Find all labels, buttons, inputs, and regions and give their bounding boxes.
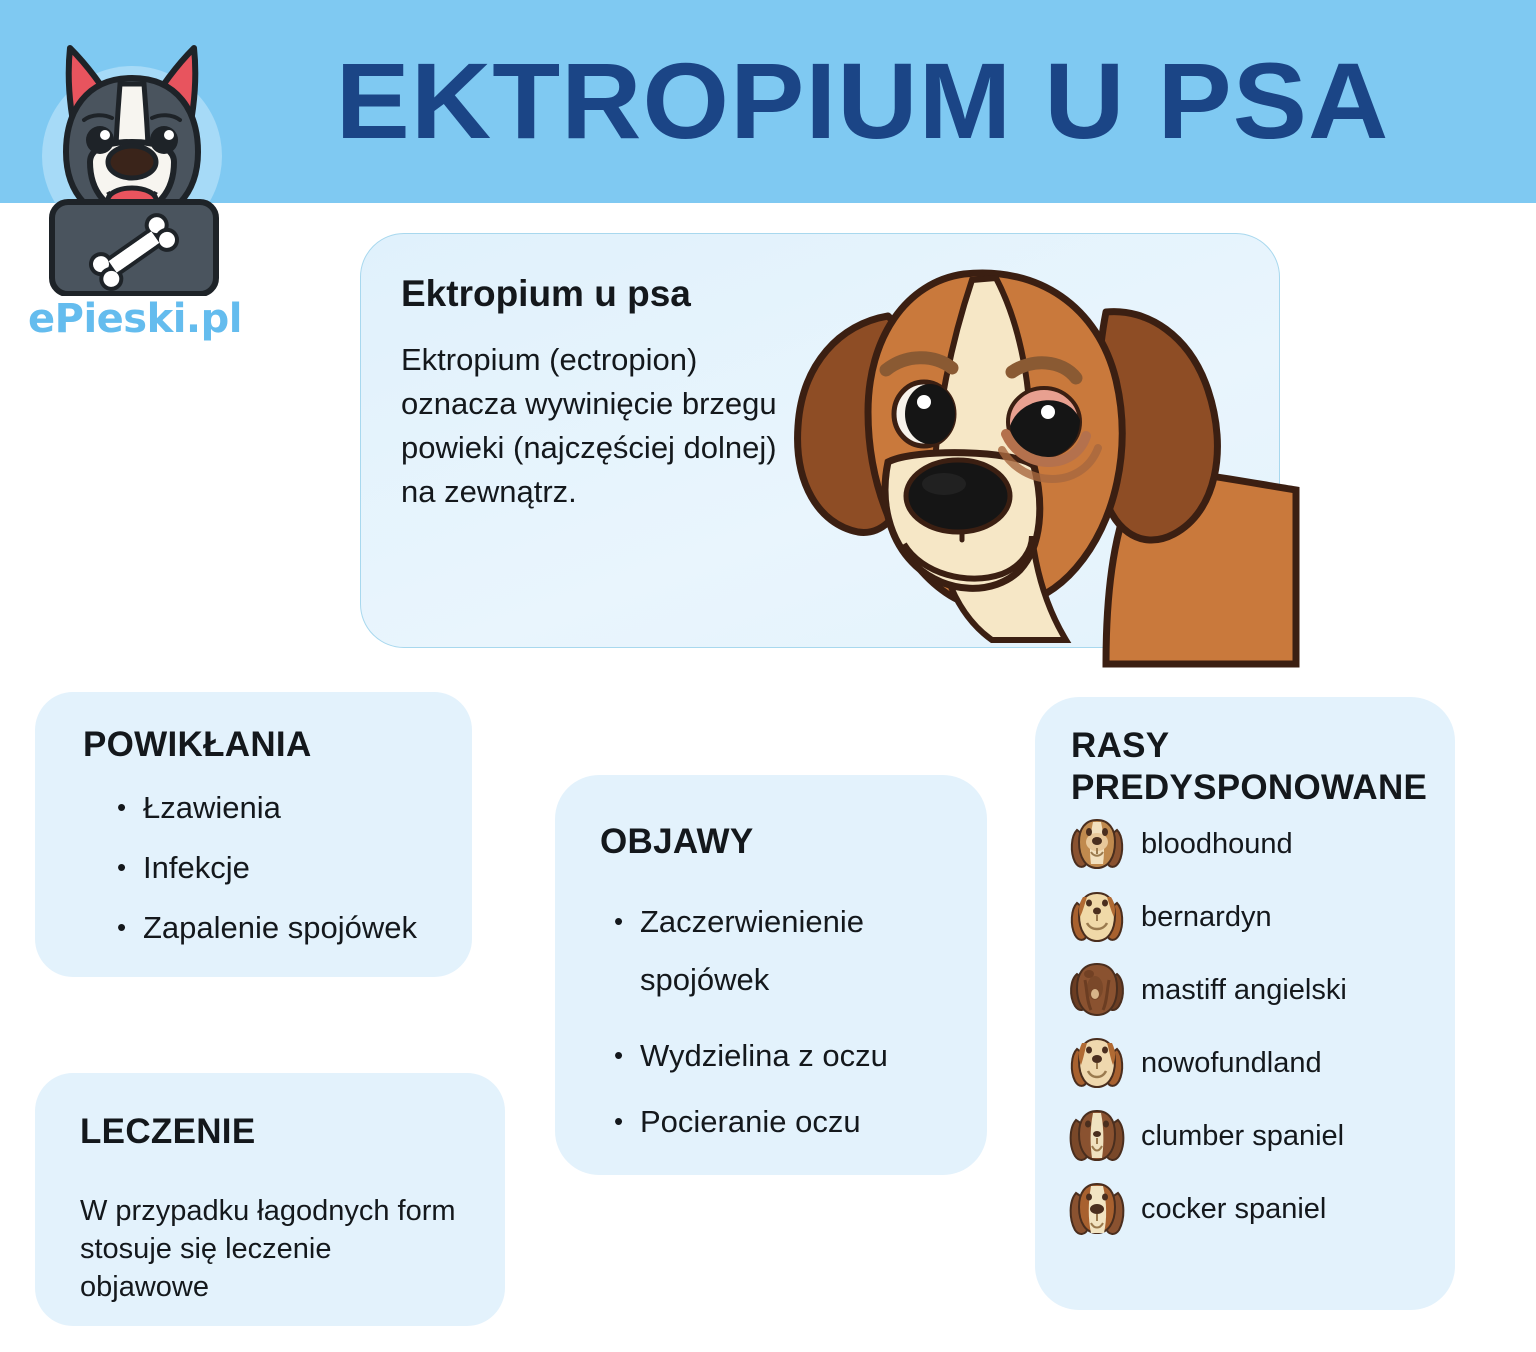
hero-text-block: Ektropium u psa Ektropium (ectropion) oz… [401, 272, 791, 514]
list-item: Pocieranie oczu [610, 1103, 940, 1141]
treatment-body: W przypadku łagodnych form stosuje się l… [80, 1192, 465, 1306]
list-item: Infekcje [113, 849, 417, 887]
list-item: bloodhound [1065, 807, 1445, 880]
breed-label: bernardyn [1141, 900, 1272, 934]
hero-body: Ektropium (ectropion) oznacza wywinięcie… [401, 338, 791, 514]
list-item: clumber spaniel [1065, 1099, 1445, 1172]
list-item: cocker spaniel [1065, 1172, 1445, 1245]
page-title: EKTROPIUM U PSA [278, 36, 1447, 166]
dog-head-cocker-icon [1065, 1177, 1129, 1241]
dog-head-mastiff-icon [1065, 958, 1129, 1022]
list-item: Zaczerwienienie spojówek [610, 893, 940, 1009]
breeds-title-line2: PREDYSPONOWANE [1071, 768, 1427, 807]
treatment-card: LECZENIE W przypadku łagodnych form stos… [35, 1073, 505, 1326]
list-item: nowofundland [1065, 1026, 1445, 1099]
list-item: mastiff angielski [1065, 953, 1445, 1026]
brand-logo[interactable]: ePieski.pl [12, 16, 258, 336]
breeds-list: bloodhound bernardyn [1065, 807, 1445, 1245]
sad-beagle-with-ectropion-illustration [776, 244, 1296, 664]
dog-head-newfoundland-icon [1065, 1031, 1129, 1095]
brand-name: ePieski.pl [12, 296, 258, 342]
dog-head-clumber-icon [1065, 1104, 1129, 1168]
complications-title: POWIKŁANIA [83, 724, 312, 766]
breed-label: mastiff angielski [1141, 973, 1347, 1007]
hero-card: Ektropium u psa Ektropium (ectropion) oz… [360, 233, 1280, 648]
breed-label: bloodhound [1141, 827, 1293, 861]
infographic-root: EKTROPIUM U PSA [0, 0, 1536, 1352]
breed-label: cocker spaniel [1141, 1192, 1326, 1226]
treatment-title: LECZENIE [80, 1111, 255, 1153]
list-item: Zapalenie spojówek [113, 909, 417, 947]
breeds-title-line1: RASY [1071, 726, 1169, 765]
list-item: Wydzielina z oczu [610, 1037, 940, 1075]
complications-list: Łzawienia Infekcje Zapalenie spojówek [113, 789, 417, 969]
list-item: bernardyn [1065, 880, 1445, 953]
breed-label: nowofundland [1141, 1046, 1322, 1080]
boston-terrier-logo-icon [12, 16, 258, 296]
complications-card: POWIKŁANIA Łzawienia Infekcje Zapalenie … [35, 692, 472, 977]
dog-head-saint-bernard-icon [1065, 885, 1129, 949]
breeds-card: RASY PREDYSPONOWANE bloodhound [1035, 697, 1455, 1310]
breed-label: clumber spaniel [1141, 1119, 1344, 1153]
dog-head-bloodhound-icon [1065, 812, 1129, 876]
symptoms-title: OBJAWY [600, 821, 754, 863]
hero-heading: Ektropium u psa [401, 272, 791, 316]
symptoms-card: OBJAWY Zaczerwienienie spojówek Wydzieli… [555, 775, 987, 1175]
symptoms-list: Zaczerwienienie spojówek Wydzielina z oc… [610, 893, 940, 1169]
breeds-title: RASY PREDYSPONOWANE [1071, 725, 1441, 809]
list-item: Łzawienia [113, 789, 417, 827]
